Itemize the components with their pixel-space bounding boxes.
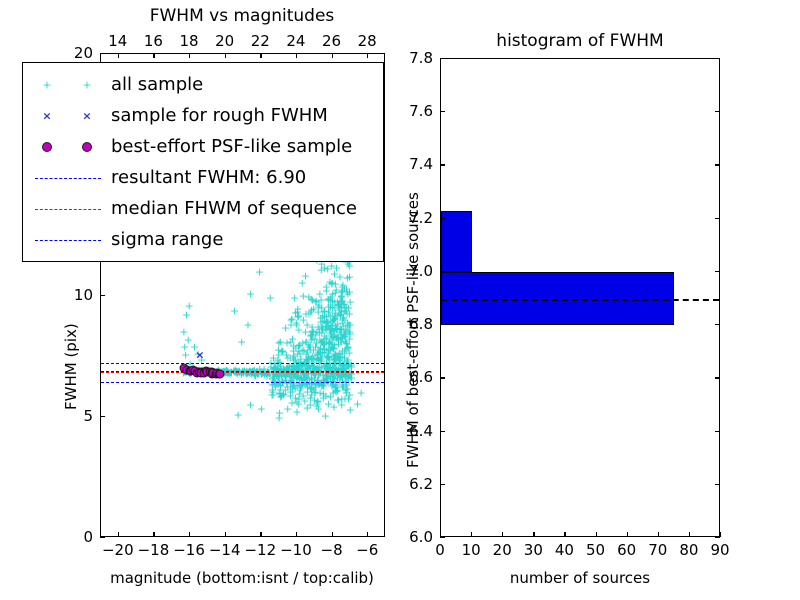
axis-tick-label: 20 [74, 44, 93, 62]
axis-tick [533, 532, 534, 537]
scatter-point-all-sample: + [301, 326, 310, 337]
axis-tick [715, 111, 720, 112]
scatter-point-all-sample: + [353, 398, 362, 409]
scatter-point-all-sample: + [314, 404, 323, 415]
axis-tick-label: 28 [358, 32, 377, 50]
histogram-data-layer [441, 59, 719, 536]
axis-tick [440, 537, 445, 538]
scatter-point-all-sample: + [324, 351, 333, 362]
axis-tick [502, 532, 503, 537]
scatter-point-all-sample: + [275, 413, 284, 424]
axis-tick [440, 164, 445, 165]
axis-tick [118, 532, 119, 537]
axis-tick-label: 18 [180, 32, 199, 50]
axis-tick [715, 58, 720, 59]
histogram-axes [440, 58, 720, 537]
scatter-point-all-sample: + [267, 390, 276, 401]
legend-item[interactable]: best-effort PSF-like sample [31, 131, 373, 162]
figure-canvas: ++++++++++++++++++++++++++++++++++++++++… [0, 0, 800, 600]
axis-tick [332, 532, 333, 537]
scatter-point-all-sample: + [301, 337, 310, 348]
scatter-point-all-sample: + [341, 305, 350, 316]
axis-tick-label: 20 [215, 32, 234, 50]
scatter-point-psf-like [215, 369, 224, 378]
axis-tick [658, 532, 659, 537]
axis-tick-label: 10 [74, 286, 93, 304]
axis-tick-label: −6 [356, 541, 378, 559]
scatter-point-all-sample: + [237, 368, 246, 379]
axis-tick [100, 537, 105, 538]
axis-tick-label: −18 [138, 541, 170, 559]
axis-tick-label: 0 [83, 528, 93, 546]
axis-tick [296, 532, 297, 537]
axis-tick-label: 40 [555, 541, 574, 559]
axis-tick [715, 377, 720, 378]
axis-tick [367, 532, 368, 537]
axis-tick-label: −14 [209, 541, 241, 559]
scatter-point-all-sample: + [255, 266, 264, 277]
axis-tick [715, 431, 720, 432]
scatter-point-all-sample: + [320, 307, 329, 318]
histogram-title: histogram of FWHM [496, 31, 663, 51]
axis-tick-label: 6.0 [409, 528, 433, 546]
axis-tick-label: 90 [710, 541, 729, 559]
legend-item[interactable]: median FHWM of sequence [31, 193, 373, 224]
axis-tick [715, 271, 720, 272]
axis-tick-label: 80 [679, 541, 698, 559]
axis-tick [715, 324, 720, 325]
scatter-point-all-sample: + [234, 409, 243, 420]
legend-item[interactable]: sigma range [31, 224, 373, 255]
axis-tick-label: −16 [173, 541, 205, 559]
plot-legend[interactable]: ++all sample××sample for rough FWHMbest-… [22, 62, 384, 262]
axis-tick [440, 377, 445, 378]
legend-item-label: sample for rough FWHM [111, 107, 328, 125]
axis-tick [715, 537, 720, 538]
legend-item[interactable]: ++all sample [31, 69, 373, 100]
legend-item-label: median FHWM of sequence [111, 200, 357, 218]
axis-tick [596, 532, 597, 537]
scatter-point-all-sample: + [315, 289, 324, 300]
scatter-point-all-sample: + [298, 278, 307, 289]
axis-tick [715, 484, 720, 485]
axis-tick [189, 53, 190, 58]
axis-tick [471, 532, 472, 537]
axis-tick-label: 30 [524, 541, 543, 559]
legend-marker-circle-icon [31, 137, 105, 157]
legend-item-label: best-effort PSF-like sample [111, 138, 352, 156]
axis-tick-label: −10 [280, 541, 312, 559]
axis-tick [367, 53, 368, 58]
axis-tick-label: −8 [321, 541, 343, 559]
axis-tick [225, 53, 226, 58]
scatter-point-all-sample: + [287, 313, 296, 324]
axis-tick [332, 53, 333, 58]
scatter-ylabel: FWHM (pix) [62, 323, 80, 410]
legend-item[interactable]: resultant FWHM: 6.90 [31, 162, 373, 193]
legend-item-label: sigma range [111, 231, 223, 249]
scatter-point-all-sample: + [341, 332, 350, 343]
legend-marker-plus-icon: ++ [31, 75, 105, 95]
scatter-point-all-sample: + [257, 403, 266, 414]
scatter-point-all-sample: + [276, 337, 285, 348]
legend-marker-x-icon: ×× [31, 106, 105, 126]
axis-tick [100, 295, 105, 296]
axis-tick [440, 484, 445, 485]
scatter-point-all-sample: + [266, 293, 275, 304]
axis-tick-label: 20 [493, 541, 512, 559]
scatter-point-all-sample: + [275, 389, 284, 400]
scatter-point-all-sample: + [325, 323, 334, 334]
reference-line-dashdot [101, 363, 384, 364]
axis-tick [296, 53, 297, 58]
axis-tick [627, 532, 628, 537]
axis-tick-label: 16 [144, 32, 163, 50]
axis-tick-label: 7.4 [409, 155, 433, 173]
axis-tick-label: 24 [286, 32, 305, 50]
scatter-point-all-sample: + [337, 400, 346, 411]
axis-tick [225, 532, 226, 537]
axis-tick [153, 53, 154, 58]
scatter-point-all-sample: + [243, 320, 252, 331]
axis-tick [440, 431, 445, 432]
axis-tick-label: 10 [462, 541, 481, 559]
scatter-point-all-sample: + [320, 263, 329, 274]
scatter-plot-title: FWHM vs magnitudes [150, 6, 335, 26]
axis-tick-label: 0 [435, 541, 445, 559]
legend-marker-dashed-line-icon [31, 199, 105, 219]
legend-marker-dashdot-line-icon [31, 230, 105, 250]
scatter-point-all-sample: + [246, 288, 255, 299]
axis-tick-label: 14 [108, 32, 127, 50]
axis-tick-label: 7.6 [409, 102, 433, 120]
scatter-point-all-sample: + [292, 407, 301, 418]
reference-line-dashdot [101, 382, 384, 383]
axis-tick [440, 271, 445, 272]
reference-line-resultant-fwhm [441, 299, 719, 301]
axis-tick [689, 532, 690, 537]
scatter-point-rough-fwhm: × [195, 350, 204, 361]
histogram-bar [441, 211, 472, 272]
axis-tick [715, 218, 720, 219]
axis-tick [440, 58, 445, 59]
scatter-point-all-sample: + [182, 310, 191, 321]
scatter-point-all-sample: + [246, 399, 255, 410]
axis-tick-label: 50 [586, 541, 605, 559]
axis-tick [100, 416, 105, 417]
axis-tick [440, 111, 445, 112]
histogram-ylabel: FWHM of best-effort PSF-like sources [404, 192, 422, 468]
scatter-point-all-sample: + [306, 399, 315, 410]
scatter-point-all-sample: + [283, 403, 292, 414]
axis-tick-label: 7.8 [409, 49, 433, 67]
legend-marker-dashed-line-icon [31, 168, 105, 188]
reference-line-dashed [101, 372, 384, 373]
axis-tick [715, 164, 720, 165]
scatter-point-all-sample: + [237, 336, 246, 347]
axis-tick-label: 60 [617, 541, 636, 559]
scatter-point-all-sample: + [342, 284, 351, 295]
axis-tick [720, 532, 721, 537]
axis-tick [189, 532, 190, 537]
axis-tick [118, 53, 119, 58]
axis-tick-label: −12 [244, 541, 276, 559]
scatter-point-all-sample: + [280, 374, 289, 385]
axis-tick-label: −20 [102, 541, 134, 559]
axis-tick-label: 5 [83, 407, 93, 425]
axis-tick [153, 532, 154, 537]
scatter-point-all-sample: + [307, 387, 316, 398]
axis-tick-label: 70 [648, 541, 667, 559]
scatter-point-all-sample: + [297, 377, 306, 388]
histogram-xlabel: number of sources [510, 569, 650, 587]
axis-tick [100, 53, 105, 54]
axis-tick [564, 532, 565, 537]
legend-item-label: all sample [111, 76, 203, 94]
axis-tick-label: 22 [251, 32, 270, 50]
axis-tick-label: 6.2 [409, 475, 433, 493]
scatter-point-all-sample: + [301, 309, 310, 320]
axis-tick [440, 324, 445, 325]
axis-tick [260, 532, 261, 537]
axis-tick-label: 26 [322, 32, 341, 50]
legend-item[interactable]: ××sample for rough FWHM [31, 100, 373, 131]
legend-item-label: resultant FWHM: 6.90 [111, 169, 306, 187]
scatter-xlabel: magnitude (bottom:isnt / top:calib) [110, 569, 374, 587]
scatter-point-all-sample: + [340, 346, 349, 357]
axis-tick [260, 53, 261, 58]
scatter-point-all-sample: + [330, 268, 339, 279]
scatter-point-all-sample: + [230, 305, 239, 316]
axis-tick [440, 218, 445, 219]
